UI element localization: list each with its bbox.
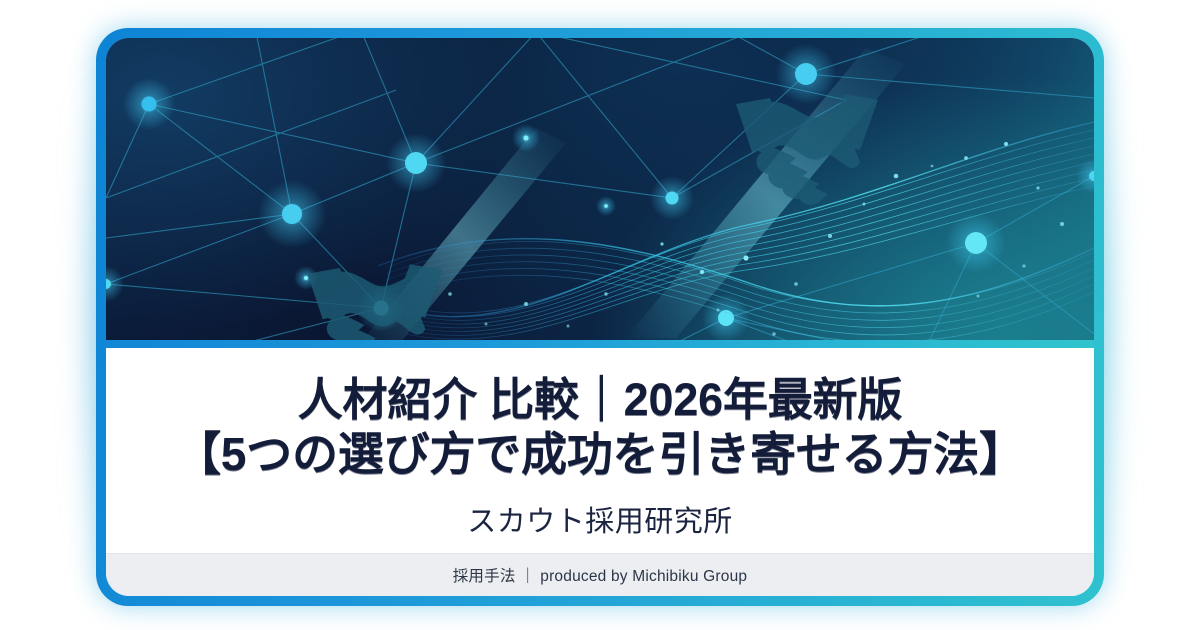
hero-banner	[106, 38, 1094, 348]
gradient-frame: 人材紹介 比較｜2026年最新版 【5つの選び方で成功を引き寄せる方法】 スカウ…	[96, 28, 1104, 606]
card-inner: 人材紹介 比較｜2026年最新版 【5つの選び方で成功を引き寄せる方法】 スカウ…	[106, 38, 1094, 596]
network-edges	[106, 38, 1094, 348]
footer-bar: 採用手法 ｜ produced by Michibiku Group	[106, 553, 1094, 596]
hero-graphic	[106, 38, 1094, 348]
title-line-2: 【5つの選び方で成功を引き寄せる方法】	[175, 427, 1025, 482]
title-line-1: 人材紹介 比較｜2026年最新版	[298, 374, 902, 425]
hero-divider	[106, 340, 1094, 348]
site-name: スカウト採用研究所	[467, 498, 733, 540]
content-area: 人材紹介 比較｜2026年最新版 【5つの選び方で成功を引き寄せる方法】 スカウ…	[106, 348, 1094, 553]
footer-credit: 採用手法 ｜ produced by Michibiku Group	[453, 564, 748, 586]
page-title: 人材紹介 比較｜2026年最新版 【5つの選び方で成功を引き寄せる方法】	[175, 373, 1025, 482]
og-image-card: 人材紹介 比較｜2026年最新版 【5つの選び方で成功を引き寄せる方法】 スカウ…	[0, 0, 1200, 630]
